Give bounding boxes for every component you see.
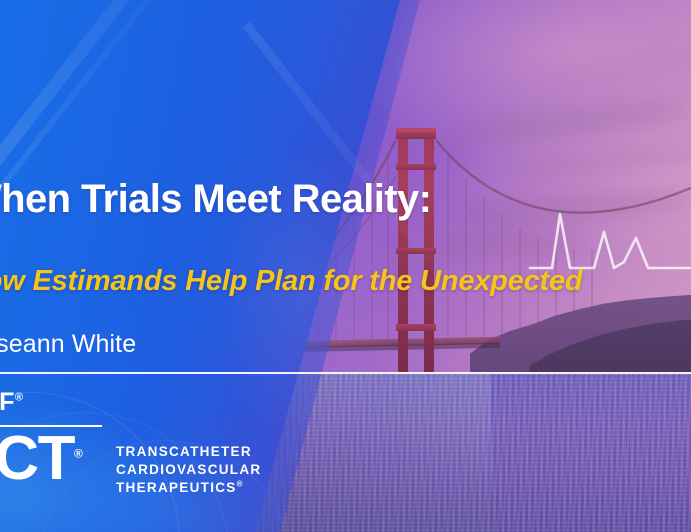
horizontal-divider-rule (0, 372, 691, 374)
tct-wordmark: TRANSCATHETER CARDIOVASCULAR THERAPEUTIC… (116, 443, 261, 496)
tct-acronym: TCT® (0, 428, 83, 490)
tct-registered-mark: ® (74, 446, 83, 460)
presentation-title-slide: When Trials Meet Reality: How Estimands … (0, 0, 691, 532)
wordmark-line-3: THERAPEUTICS (116, 480, 237, 495)
crf-text: CRF (0, 388, 15, 416)
tct-text: TCT (0, 424, 74, 493)
crf-registered-mark: ® (15, 392, 24, 404)
crf-wordmark: CRF® (0, 388, 24, 417)
slide-subtitle: How Estimands Help Plan for the Unexpect… (0, 265, 691, 298)
wordmark-line-3-wrap: THERAPEUTICS® (116, 479, 261, 497)
wordmark-line-1: TRANSCATHETER (116, 443, 261, 461)
speaker-name: Roseann White (0, 330, 136, 359)
slide-title: When Trials Meet Reality: (0, 178, 691, 221)
wordmark-line-2: CARDIOVASCULAR (116, 461, 261, 479)
wordmark-registered-mark: ® (237, 479, 244, 488)
